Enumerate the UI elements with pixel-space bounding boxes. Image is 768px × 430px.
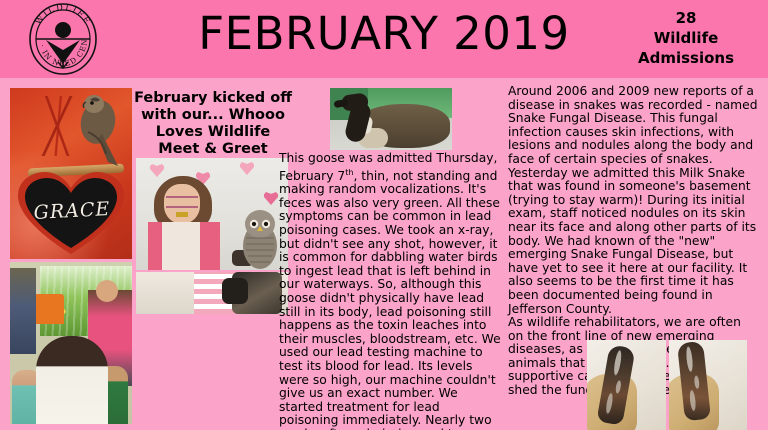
goose-article-part2: , thin, not standing and making random v… — [279, 169, 501, 430]
snake-article-paragraph-1: Around 2006 and 2009 new reports of a di… — [508, 85, 760, 316]
admissions-summary: 28 Wildlife Admissions — [616, 8, 756, 68]
grace-name-label: GRACE — [31, 198, 112, 224]
eyeglasses-icon — [166, 196, 198, 208]
snake-head-lesions-photo-2 — [669, 340, 748, 430]
barred-owl-icon — [236, 208, 284, 270]
snake-photo-group — [587, 340, 747, 430]
owl-closeup-photo — [136, 272, 288, 314]
snake-head-lesions-photo-1 — [587, 340, 666, 430]
owl-handler-photo — [136, 158, 288, 270]
kestrel-grace-photo: GRACE — [10, 88, 132, 259]
american-kestrel-icon — [68, 92, 126, 172]
page-header: WILDLIFE · IN NEED CENTER · FEBRUARY 201… — [0, 0, 768, 78]
canada-goose-photo — [330, 88, 452, 150]
goose-article: This goose was admitted Thursday, Februa… — [279, 152, 501, 430]
visitors-event-photo — [10, 262, 132, 424]
newsletter-page: WILDLIFE · IN NEED CENTER · FEBRUARY 201… — [0, 0, 768, 430]
admissions-label-line1: Wildlife — [616, 28, 756, 48]
admissions-label-line2: Admissions — [616, 48, 756, 68]
admissions-count: 28 — [616, 8, 756, 28]
